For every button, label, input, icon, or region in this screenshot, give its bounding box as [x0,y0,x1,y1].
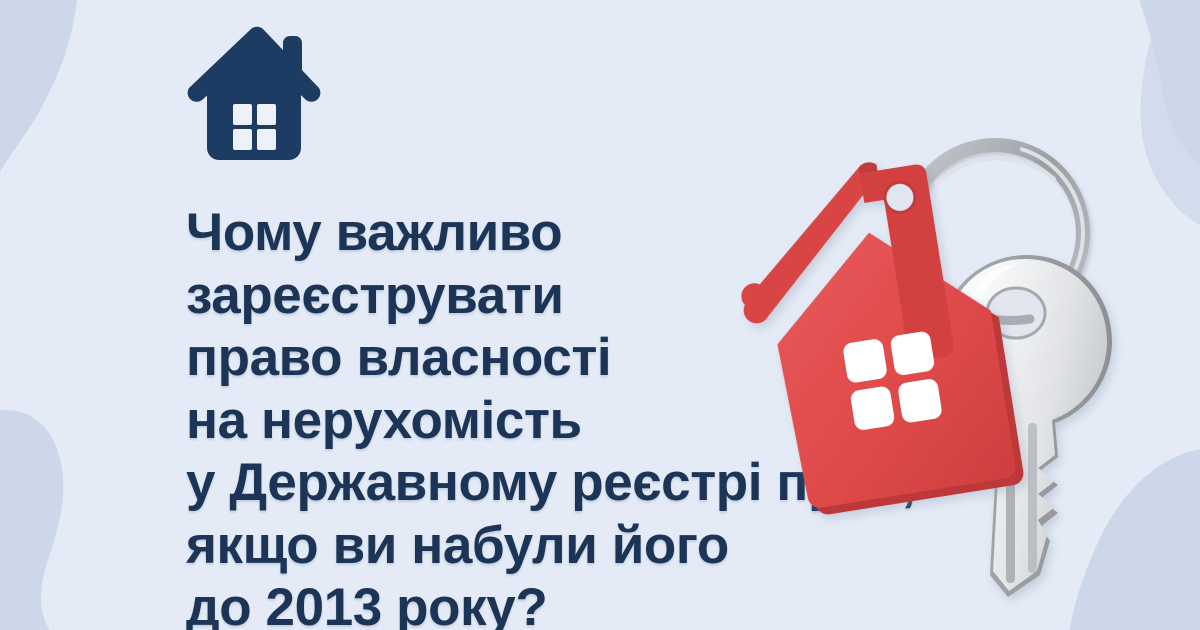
window-pane-top-left [233,104,252,125]
key-groove-right [1028,423,1037,573]
house-keyfob [740,146,1025,523]
window-pane-top-right [257,104,276,125]
blob-top-left-2 [0,0,74,174]
keyfob-window-pane-top-left [842,338,888,384]
blob-bottom-left [0,410,63,630]
window-pane-bottom-left [233,129,252,150]
keyfob-window-pane-top-right [890,330,936,376]
keyfob-window-pane-bottom-right [897,378,943,424]
keyfob-window-pane-bottom-left [850,385,896,431]
window-pane-bottom-right [257,129,276,150]
house-keyring-illustration [740,105,1180,605]
blob-top-left [0,0,78,186]
house-logo [183,18,325,166]
poster-canvas: Чому важливо зареєструвати право власнос… [0,0,1200,630]
